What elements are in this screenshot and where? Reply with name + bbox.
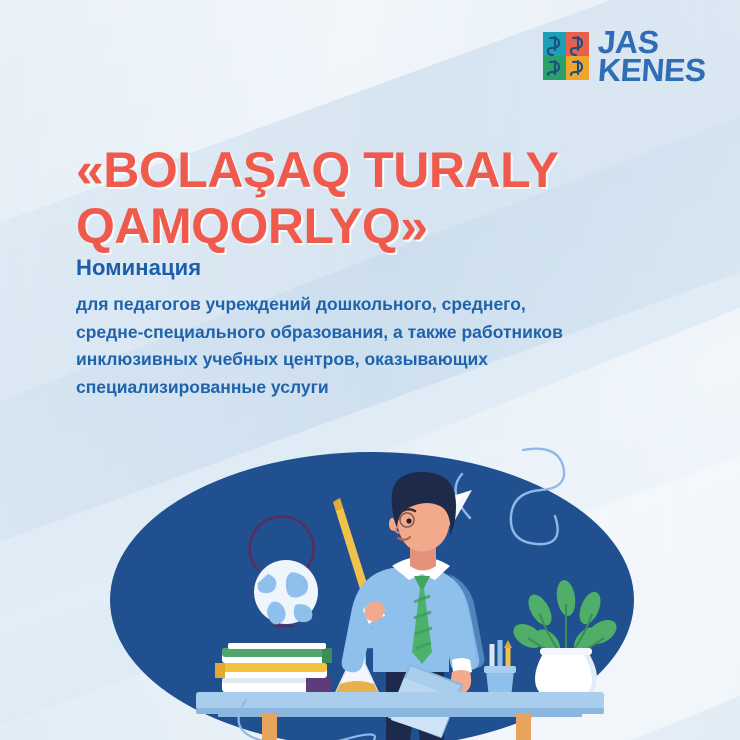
desk-top — [196, 692, 604, 710]
nomination-line-4: специализированные услуги — [76, 374, 716, 402]
desk-leg-left — [262, 714, 277, 740]
teacher-illustration — [0, 432, 740, 740]
jas-kenes-ornament-mark — [543, 32, 589, 80]
title-line-1: «BOLAŞAQ TURALY — [76, 142, 696, 198]
poster-title: «BOLAŞAQ TURALY QAMQORLYQ» — [76, 142, 696, 254]
eye — [406, 518, 411, 523]
nomination-heading: Номинация — [76, 255, 716, 281]
desk-leg-right — [516, 714, 531, 740]
logo-wordmark: JAS KENES — [598, 28, 706, 84]
logo-line-kenes: KENES — [597, 56, 707, 84]
poster-canvas: JAS KENES «BOLAŞAQ TURALY QAMQORLYQ» Ном… — [0, 0, 740, 740]
title-line-2: QAMQORLYQ» — [76, 198, 696, 254]
nomination-line-3: инклюзивных учебных центров, оказывающих — [76, 346, 716, 374]
teacher-illustration-svg — [0, 432, 740, 740]
nomination-line-2: средне-специального образования, а также… — [76, 319, 716, 347]
nomination-description: для педагогов учреждений дошкольного, ср… — [76, 291, 716, 402]
nomination-line-1: для педагогов учреждений дошкольного, ср… — [76, 291, 716, 319]
book-stack — [215, 643, 332, 692]
nomination-block: Номинация для педагогов учреждений дошко… — [76, 255, 716, 402]
brand-logo: JAS KENES — [543, 28, 706, 84]
